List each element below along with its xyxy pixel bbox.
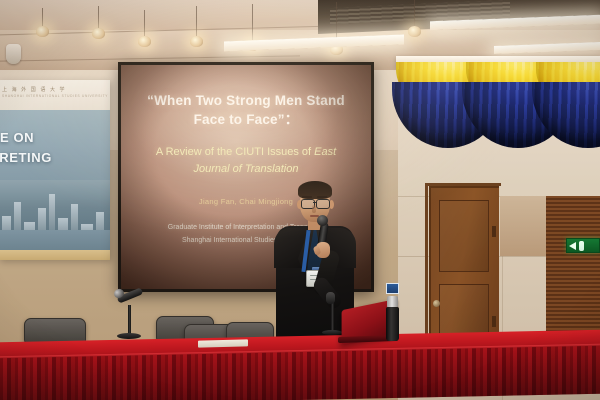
ceiling-sensor-icon xyxy=(6,44,21,64)
light-rod xyxy=(98,6,99,30)
nose xyxy=(312,205,316,213)
door-knob-icon[interactable] xyxy=(433,300,440,307)
wall-block xyxy=(500,196,548,256)
slide-title: “When Two Strong Men Stand Face to Face”… xyxy=(147,91,345,129)
thermos-flask[interactable] xyxy=(386,307,399,341)
ceiling-seam xyxy=(0,55,300,61)
wall-notice-sign xyxy=(386,283,399,294)
door-hinge-icon xyxy=(492,316,496,327)
banner-logo-subtext: SHANGHAI INTERNATIONAL STUDIES UNIVERSIT… xyxy=(2,94,108,98)
desk-microphone-base xyxy=(117,333,141,339)
slide-subtitle-text: A Review of the CIUTI Issues of xyxy=(156,146,314,158)
banner-headline-line2: RPRETING xyxy=(0,148,110,168)
drapery-navy xyxy=(532,82,600,148)
light-rod xyxy=(42,8,43,28)
conference-banner: 上 海 外 国 语 大 学 SHANGHAI INTERNATIONAL STU… xyxy=(0,80,110,260)
slide-title-line2: Face to Face”： xyxy=(147,110,345,129)
desk-microphone-stem xyxy=(331,300,334,332)
desk-microphone-stem xyxy=(128,305,131,335)
desk-microphone[interactable] xyxy=(326,292,335,304)
eyebrow-left xyxy=(302,196,312,198)
arrow-left-icon xyxy=(569,242,576,250)
eyebrow-right xyxy=(317,196,327,198)
banner-water xyxy=(0,230,110,252)
banner-footer xyxy=(0,250,110,260)
light-rod xyxy=(252,4,253,42)
light-rod xyxy=(414,0,415,28)
wood-slat-panel xyxy=(546,196,600,342)
running-person-icon xyxy=(579,241,584,251)
slide-journal-name-1: East xyxy=(314,146,336,158)
exit-sign xyxy=(566,238,600,253)
pendant-light-icon xyxy=(408,26,421,37)
glasses-bridge xyxy=(313,202,316,203)
photo-scene: 上 海 外 国 语 大 学 SHANGHAI INTERNATIONAL STU… xyxy=(0,0,600,400)
desk-microphone-base xyxy=(322,330,342,335)
slide-subtitle: A Review of the CIUTI Issues of East Jou… xyxy=(156,144,336,177)
door-panel xyxy=(439,200,489,272)
banner-headline: NCE ON RPRETING xyxy=(0,128,110,167)
light-rod xyxy=(196,6,197,38)
banner-headline-line1: NCE ON xyxy=(0,128,110,148)
door-hinge-icon xyxy=(492,226,496,237)
slide-title-line1: “When Two Strong Men Stand xyxy=(147,91,345,110)
pendant-light-icon xyxy=(92,28,105,39)
drapery-swag xyxy=(536,62,600,150)
light-rod xyxy=(144,10,145,38)
papers xyxy=(198,339,248,347)
slide-journal-name-2: Journal of Translation xyxy=(194,163,299,175)
glasses-icon xyxy=(316,199,330,209)
pendant-light-icon xyxy=(36,26,49,37)
drapery-valance xyxy=(402,62,600,154)
pendant-light-icon xyxy=(138,36,151,47)
pendant-light-icon xyxy=(190,36,203,47)
banner-logo: 上 海 外 国 语 大 学 xyxy=(2,86,66,93)
